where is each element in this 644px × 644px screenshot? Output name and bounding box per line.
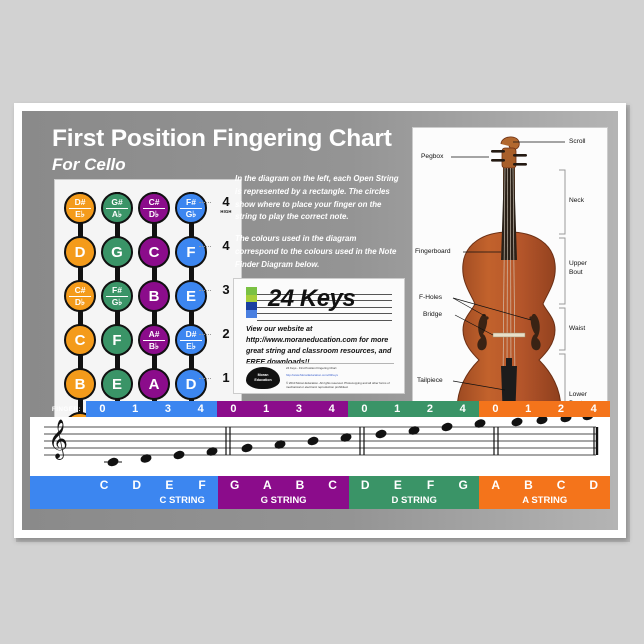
copyright-block: 24 Keys - First Position Fingering Chart… xyxy=(286,366,394,393)
string-name: D STRING xyxy=(349,495,480,506)
note-circle[interactable]: E xyxy=(175,280,207,312)
note-name: C xyxy=(316,478,349,492)
label-f-holes: F-Holes xyxy=(419,294,442,301)
finger-label: FINGER: xyxy=(30,401,86,417)
finger-number: 1 xyxy=(250,401,283,417)
intro-paragraph-2: The colours used in the diagram correspo… xyxy=(235,233,402,271)
logo-line-2: Education xyxy=(254,378,271,383)
leader-dots xyxy=(199,246,211,247)
divider xyxy=(246,363,394,364)
page-title: First Position Fingering Chart xyxy=(52,125,392,153)
note-name: A xyxy=(479,478,512,492)
note-circle[interactable]: B xyxy=(64,368,96,400)
note-circle[interactable]: C#D♭ xyxy=(64,280,96,312)
string-segment-G[interactable]: GABCG STRING xyxy=(218,476,349,509)
music-staff: 𝄞 xyxy=(30,417,610,476)
string-segment-A[interactable]: ABCDA STRING xyxy=(479,476,610,509)
fineprint-copyright: © 2010 Moran Education. All rights reser… xyxy=(286,381,394,391)
leader-dots xyxy=(199,378,211,379)
finger-number: 0 xyxy=(348,401,381,417)
label-tailpiece: Tailpiece xyxy=(417,377,443,384)
note-circle[interactable]: F xyxy=(175,236,207,268)
poster: First Position Fingering Chart For Cello… xyxy=(14,103,626,538)
logo-text: 24 Keys xyxy=(268,285,398,313)
label-pegbox: Pegbox xyxy=(421,153,443,160)
note-circle[interactable]: A#B♭ xyxy=(138,324,170,356)
note-circle[interactable]: B xyxy=(138,280,170,312)
branding-card: 24 Keys View our website at http://www.m… xyxy=(233,278,405,394)
intro-paragraph-1: In the diagram on the left, each Open St… xyxy=(235,173,402,224)
finger-number-bar: FINGER: 0134013401240124 xyxy=(30,401,610,417)
note-circle[interactable]: D#E♭ xyxy=(64,192,96,224)
finger-number: 4 xyxy=(577,401,610,417)
note-name-bar: CDEFC STRINGGABCG STRINGDEFGD STRINGABCD… xyxy=(30,476,610,509)
finger-number: 2 xyxy=(545,401,578,417)
fineprint-title: 24 Keys - First Position Fingering Chart xyxy=(286,366,394,371)
note-circle[interactable]: D xyxy=(175,368,207,400)
spacer xyxy=(30,478,88,492)
note-name: D xyxy=(577,478,610,492)
note-circle[interactable]: F xyxy=(101,324,133,356)
finger-number: 0 xyxy=(479,401,512,417)
finger-number: 1 xyxy=(381,401,414,417)
moran-education-logo: Moran Education xyxy=(246,367,280,389)
finger-number: 4 xyxy=(184,401,217,417)
note-name: G xyxy=(447,478,480,492)
note-name: E xyxy=(382,478,415,492)
note-circle[interactable]: F#G♭ xyxy=(175,192,207,224)
note-name: A xyxy=(251,478,284,492)
string-segment-C[interactable]: CDEFC STRING xyxy=(30,476,218,509)
note-name: F xyxy=(414,478,447,492)
finger-segment-C: 0134 xyxy=(86,401,217,417)
page-subtitle: For Cello xyxy=(52,155,126,175)
label-waist: Waist xyxy=(569,325,585,332)
note-circle[interactable]: G#A♭ xyxy=(101,192,133,224)
string-segment-D[interactable]: DEFGD STRING xyxy=(349,476,480,509)
leader-dots xyxy=(199,334,211,335)
staff-notation: 𝄞 xyxy=(30,417,610,476)
finger-segment-D: 0124 xyxy=(348,401,479,417)
note-name: C xyxy=(88,478,121,492)
note-name: E xyxy=(153,478,186,492)
note-circle[interactable]: C xyxy=(138,236,170,268)
leader-dots xyxy=(199,202,211,203)
finger-number: 0 xyxy=(217,401,250,417)
finger-number: 3 xyxy=(152,401,185,417)
website-blurb: View our website at http://www.moraneduc… xyxy=(246,323,396,368)
label-fingerboard: Fingerboard xyxy=(415,248,451,255)
leader-dots xyxy=(199,290,211,291)
note-circle[interactable]: C#D♭ xyxy=(138,192,170,224)
intro-text: In the diagram on the left, each Open St… xyxy=(235,173,402,281)
label-neck: Neck xyxy=(569,197,584,204)
note-name: F xyxy=(186,478,219,492)
finger-number: 4 xyxy=(446,401,479,417)
note-circle[interactable]: C xyxy=(64,324,96,356)
note-name: D xyxy=(349,478,382,492)
label-bridge: Bridge xyxy=(423,311,442,318)
logo-24keys: 24 Keys xyxy=(246,286,392,320)
note-name: B xyxy=(284,478,317,492)
label-scroll: Scroll xyxy=(569,138,586,145)
note-circle[interactable]: F#G♭ xyxy=(101,280,133,312)
screenshot-root: First Position Fingering Chart For Cello… xyxy=(0,0,644,644)
finger-number: 1 xyxy=(512,401,545,417)
fineprint-url[interactable]: http://www.MoranEducation.com/24Keys xyxy=(286,373,394,378)
note-name: G xyxy=(218,478,251,492)
note-name: D xyxy=(120,478,153,492)
note-circle[interactable]: G xyxy=(101,236,133,268)
finger-number: 0 xyxy=(86,401,119,417)
bass-clef-icon: 𝄞 xyxy=(48,419,68,460)
note-name: B xyxy=(512,478,545,492)
label-upper-bout: Upper Bout xyxy=(569,259,601,277)
finger-number: 3 xyxy=(283,401,316,417)
finger-number: 4 xyxy=(315,401,348,417)
note-circle[interactable]: A xyxy=(138,368,170,400)
poster-canvas: First Position Fingering Chart For Cello… xyxy=(22,111,618,530)
string-name: G STRING xyxy=(218,495,349,506)
note-name: C xyxy=(545,478,578,492)
note-circle[interactable]: E xyxy=(101,368,133,400)
finger-number: 2 xyxy=(414,401,447,417)
note-circle[interactable]: D#E♭ xyxy=(175,324,207,356)
finger-number: 1 xyxy=(119,401,152,417)
finger-segment-A: 0124 xyxy=(479,401,610,417)
note-circle[interactable]: D xyxy=(64,236,96,268)
logo-color-bars xyxy=(246,287,257,318)
finger-segment-G: 0134 xyxy=(217,401,348,417)
string-name: A STRING xyxy=(479,495,610,506)
